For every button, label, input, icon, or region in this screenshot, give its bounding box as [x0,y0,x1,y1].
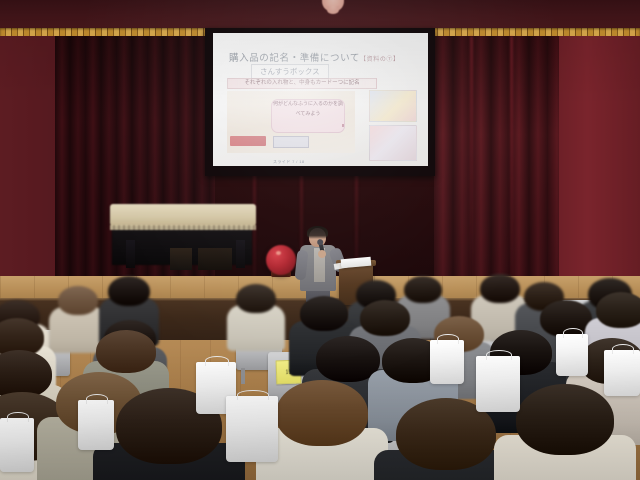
piano-leg [236,240,245,268]
attendee-hair [96,330,156,373]
slide-title: 購入品の記名・準備について【資料の⑦】 [229,50,415,64]
slide-red-tag [230,136,266,146]
slide-title-text: 購入品の記名・準備について [229,53,360,64]
slide-title-note: 【資料の⑦】 [360,57,400,63]
piano-cover-cloth [110,204,256,226]
piano-pedal-lyre [170,248,192,270]
slide-instruction-bar: それぞれの入れ物と、中身もカードーつに記名 [227,78,377,89]
attendee-hair [276,380,368,446]
hall-ceiling [0,0,640,30]
slide-callout-bubble: 何がどんなふうに入るのかを調べてみよう [271,99,345,133]
curtain-fold [510,36,513,276]
attendee-row4-b [58,286,98,361]
shopping-bag [556,334,588,376]
red-ball-decoration-icon [266,245,296,275]
attendee-hair [236,284,276,313]
slide-thumbnail-2 [369,125,417,161]
piano-leg [126,240,135,268]
curtain-fold [470,36,473,276]
attendee-hair [404,276,442,303]
stage-wall-right [552,36,640,286]
attendee-hair [480,274,520,303]
piano-bench [198,248,232,270]
slide-thumbnail-1 [369,90,417,122]
attendee-row1-d [276,380,368,480]
slide-page-indicator: スライド 7 / 18 [273,159,373,164]
shopping-bag [0,418,34,472]
projection-screen: 購入品の記名・準備について【資料の⑦】 さんすうボックス それぞれの入れ物と、中… [213,33,428,166]
attendee-hair [360,300,410,336]
stage-curtain-right [434,36,559,282]
attendee-row4-d [236,284,276,359]
slide-gray-tag [273,136,309,148]
photo-scene: 購入品の記名・準備について【資料の⑦】 さんすうボックス それぞれの入れ物と、中… [0,0,640,480]
slide-box-label: さんすうボックス [251,64,329,79]
shopping-bag [78,400,114,450]
attendee-row1-f [516,384,614,480]
attendee-hair [0,350,52,398]
attendee-hair [516,384,614,455]
attendee-hair [108,276,150,306]
presenter-hand [318,250,326,258]
attendee-hair [596,292,640,328]
shopping-bag [226,396,278,462]
stage-wall-left [0,36,60,276]
shopping-bag [430,340,464,384]
shopping-bag [604,350,640,396]
shopping-bag [476,356,520,412]
attendee-hair [58,286,98,315]
attendee-hair [300,296,348,331]
